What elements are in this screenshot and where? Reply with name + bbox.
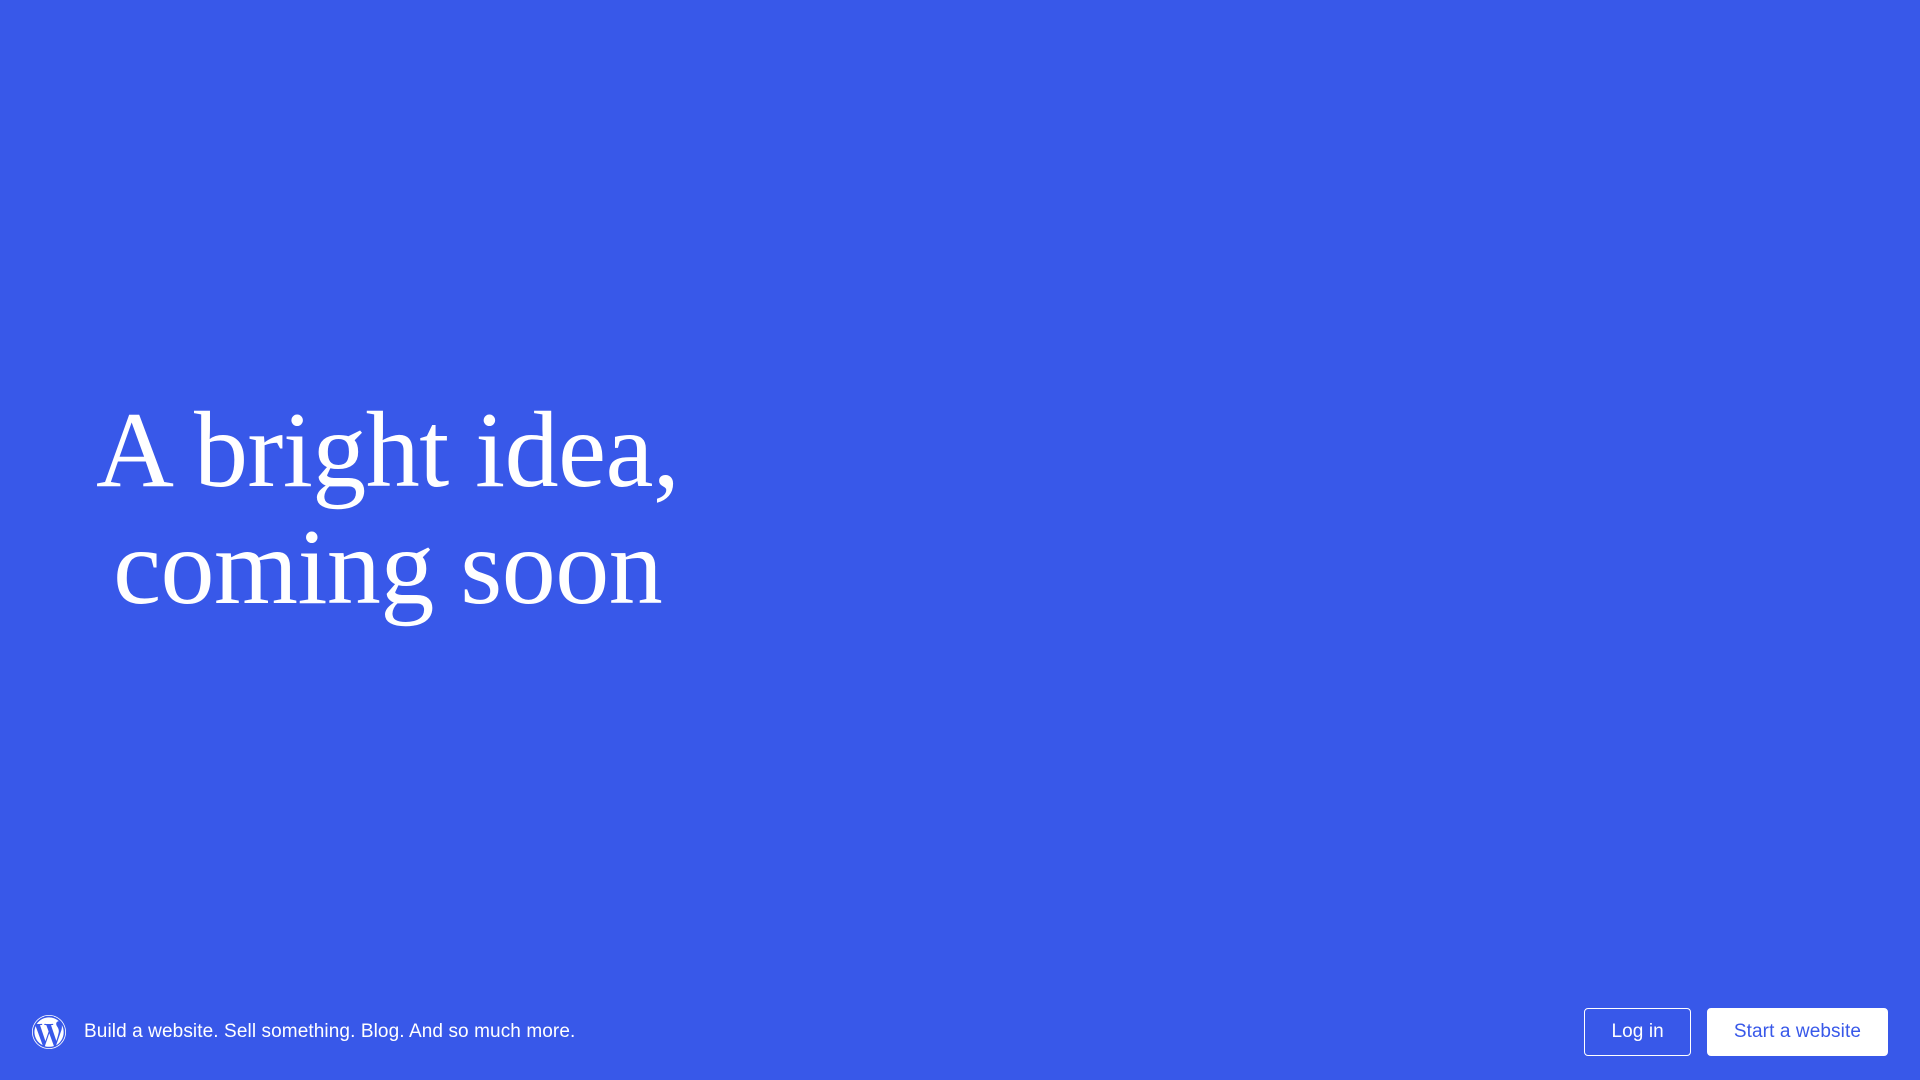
wordpress-logo	[32, 1015, 66, 1049]
page-title: A bright idea, coming soon	[96, 393, 679, 626]
hero-section: A bright idea, coming soon	[0, 0, 1920, 1080]
footer-actions: Log in Start a website	[1584, 1008, 1888, 1056]
start-a-website-button[interactable]: Start a website	[1707, 1008, 1888, 1056]
footer-tagline: Build a website. Sell something. Blog. A…	[84, 1020, 575, 1045]
log-in-button[interactable]: Log in	[1584, 1008, 1690, 1056]
footer-bar: Build a website. Sell something. Blog. A…	[0, 984, 1920, 1080]
hero-content: A bright idea, coming soon	[0, 393, 679, 626]
footer-branding: Build a website. Sell something. Blog. A…	[32, 1015, 575, 1049]
